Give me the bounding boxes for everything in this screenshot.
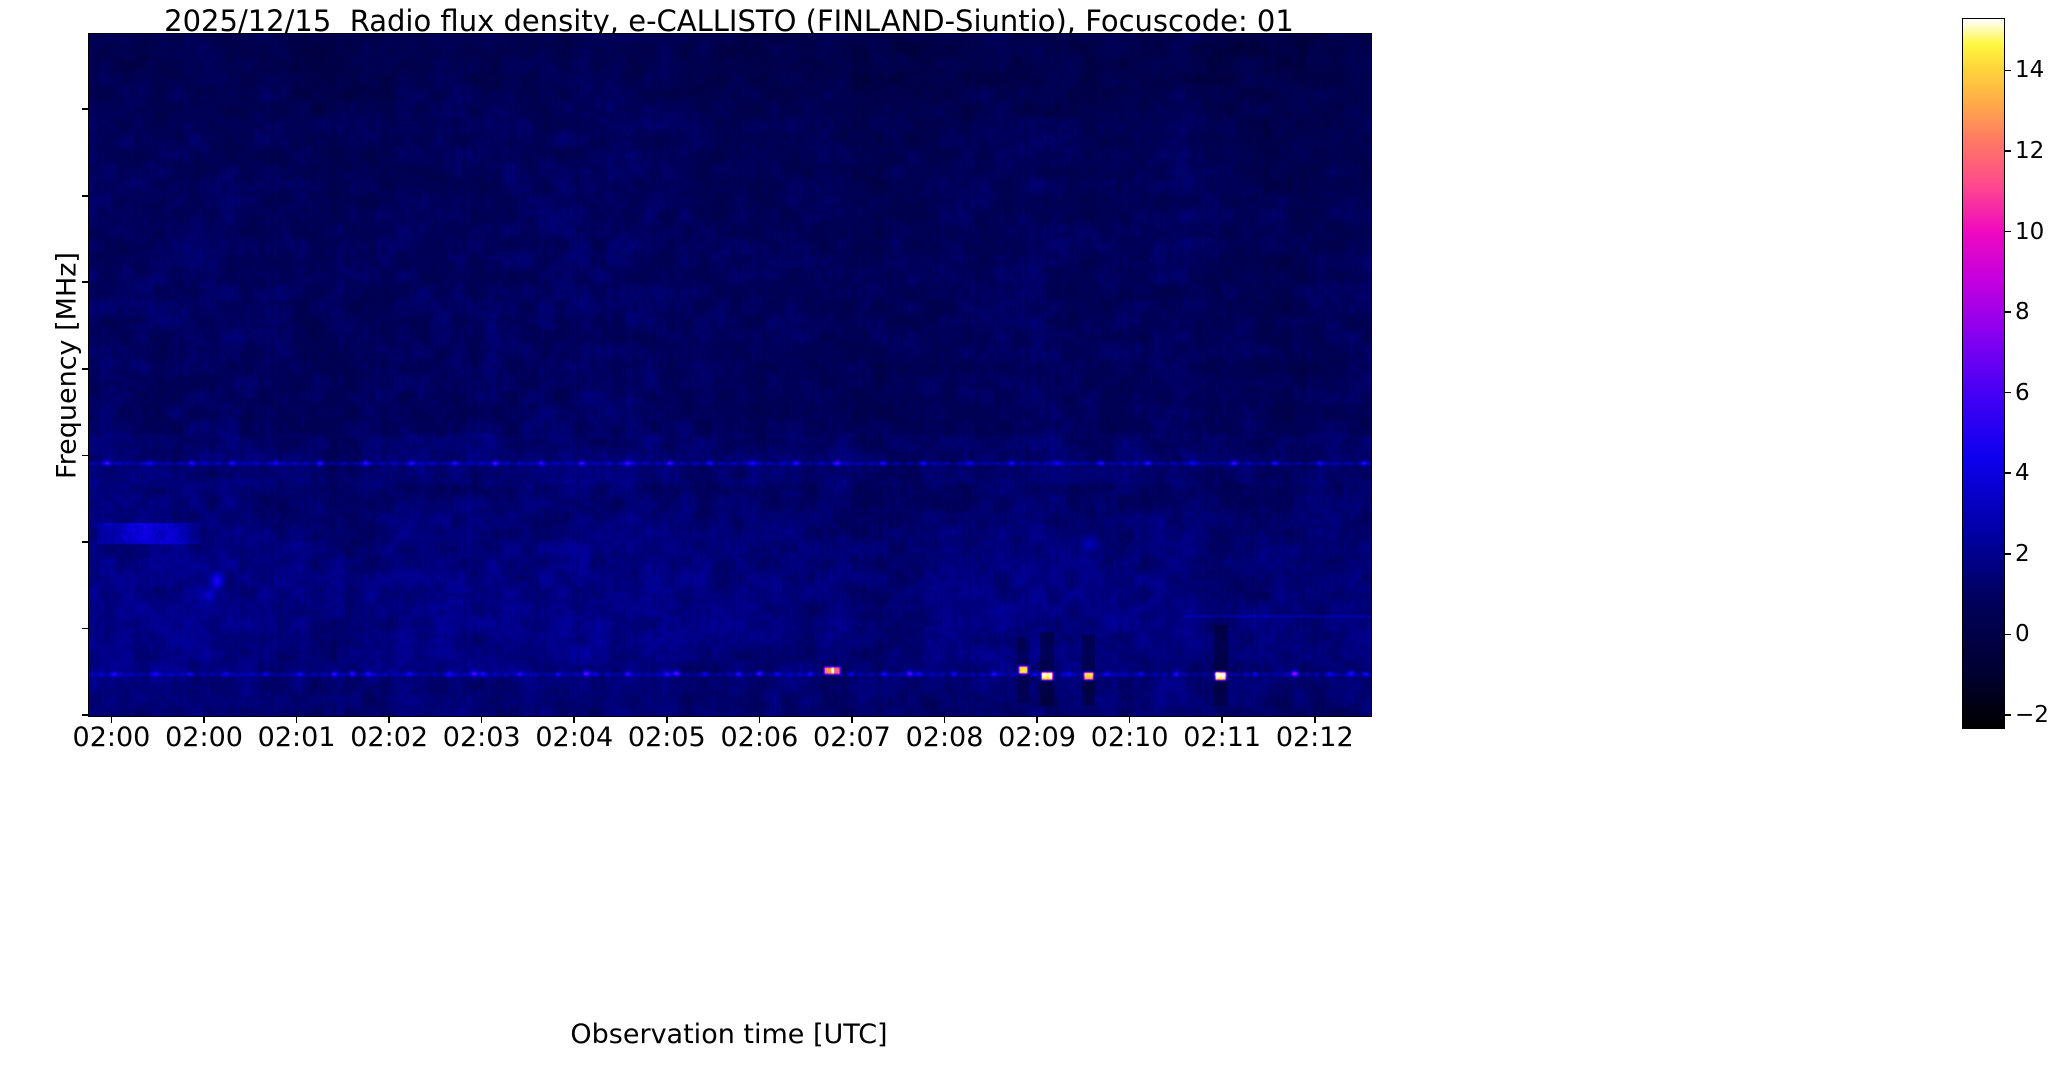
x-tick-mark — [759, 716, 761, 723]
x-tick-label: 02:00 — [73, 722, 151, 753]
colorbar-tick-mark — [2004, 472, 2011, 474]
spectrogram-axes — [88, 33, 1372, 717]
y-tick-mark — [82, 281, 89, 283]
x-tick-mark — [203, 716, 205, 723]
y-tick-mark — [82, 368, 89, 370]
colorbar — [1962, 18, 2005, 729]
colorbar-tick-label: 0 — [2015, 621, 2030, 647]
colorbar-tick-mark — [2004, 392, 2011, 394]
y-tick-mark — [82, 195, 89, 197]
y-tick-mark — [82, 714, 89, 716]
x-tick-mark — [573, 716, 575, 723]
x-tick-mark — [1221, 716, 1223, 723]
x-tick-mark — [481, 716, 483, 723]
x-tick-label: 02:09 — [998, 722, 1076, 753]
x-tick-mark — [1036, 716, 1038, 723]
y-tick-mark — [82, 108, 89, 110]
x-tick-label: 02:01 — [258, 722, 336, 753]
y-axis-label: Frequency [MHz] — [52, 26, 83, 706]
colorbar-tick-mark — [2004, 311, 2011, 313]
y-tick-mark — [82, 541, 89, 543]
colorbar-tick-mark — [2004, 150, 2011, 152]
colorbar-tick-mark — [2004, 714, 2011, 716]
y-tick-mark — [82, 455, 89, 457]
x-tick-label: 02:05 — [628, 722, 706, 753]
colorbar-tick-mark — [2004, 70, 2011, 72]
y-tick-mark — [82, 628, 89, 630]
x-tick-mark — [851, 716, 853, 723]
colorbar-tick-label: −2 — [2015, 702, 2049, 728]
x-tick-label: 02:07 — [813, 722, 891, 753]
x-tick-label: 02:03 — [443, 722, 521, 753]
colorbar-gradient — [1963, 19, 2004, 728]
x-tick-mark — [111, 716, 113, 723]
x-tick-label: 02:02 — [350, 722, 428, 753]
x-tick-label: 02:00 — [165, 722, 243, 753]
x-tick-label: 02:04 — [535, 722, 613, 753]
colorbar-tick-label: 4 — [2015, 460, 2030, 486]
x-tick-label: 02:08 — [906, 722, 984, 753]
x-tick-mark — [1129, 716, 1131, 723]
x-tick-label: 02:06 — [720, 722, 798, 753]
colorbar-tick-mark — [2004, 553, 2011, 555]
x-tick-label: 02:10 — [1091, 722, 1169, 753]
x-tick-mark — [666, 716, 668, 723]
x-tick-mark — [1314, 716, 1316, 723]
spectrogram-image — [89, 34, 1371, 716]
colorbar-tick-label: 8 — [2015, 299, 2030, 325]
colorbar-tick-mark — [2004, 231, 2011, 233]
colorbar-tick-label: 10 — [2015, 219, 2044, 245]
colorbar-tick-label: 2 — [2015, 541, 2030, 567]
x-tick-mark — [388, 716, 390, 723]
x-tick-label: 02:12 — [1276, 722, 1354, 753]
spectrogram-figure: 2025/12/15 Radio flux density, e-CALLIST… — [0, 0, 2066, 1067]
x-tick-mark — [944, 716, 946, 723]
colorbar-tick-label: 6 — [2015, 380, 2030, 406]
x-tick-label: 02:11 — [1183, 722, 1261, 753]
x-tick-mark — [296, 716, 298, 723]
colorbar-tick-label: 12 — [2015, 138, 2044, 164]
colorbar-tick-label: 14 — [2015, 57, 2044, 83]
x-axis-label: Observation time [UTC] — [88, 1019, 1370, 1050]
colorbar-tick-mark — [2004, 634, 2011, 636]
